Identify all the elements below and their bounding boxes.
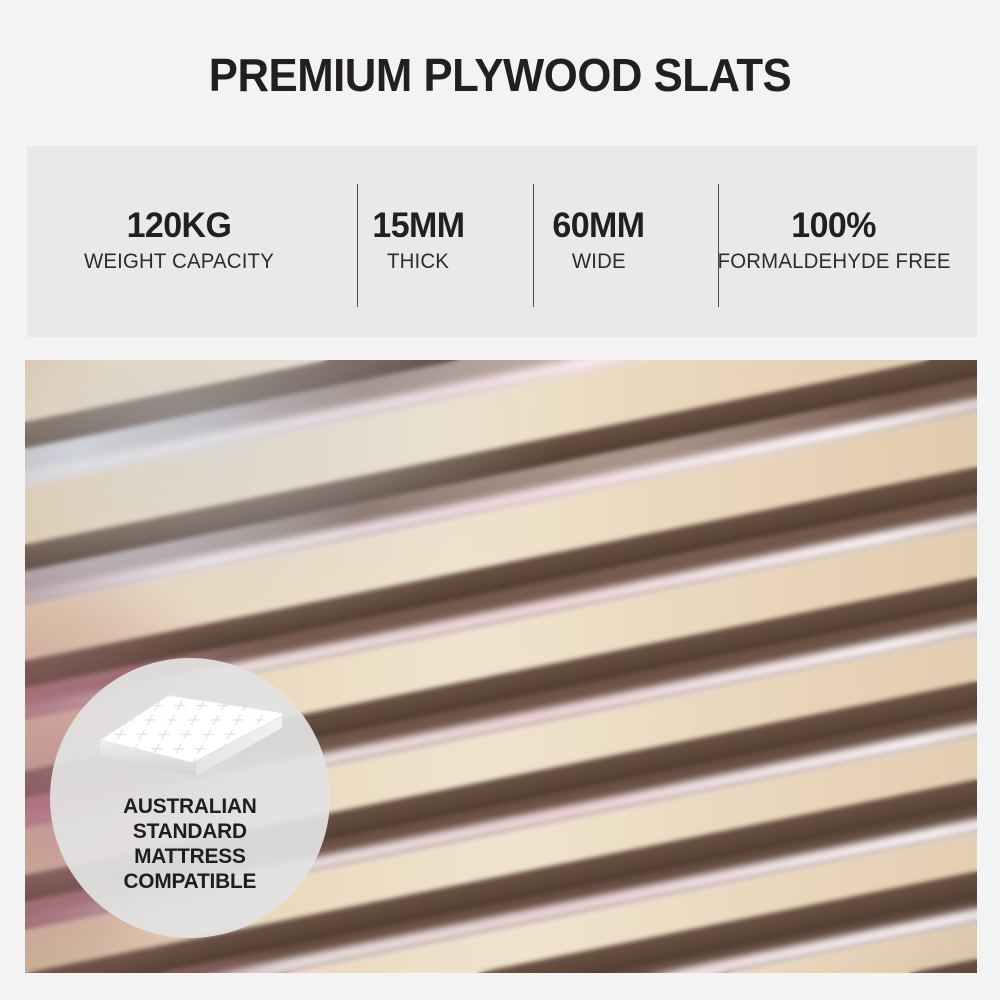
spec-value: 100% — [792, 208, 877, 245]
spec-label: WEIGHT CAPACITY — [83, 250, 273, 275]
badge-line: STANDARD — [123, 819, 257, 844]
spec-label: WIDE — [572, 250, 626, 275]
spec-value: 120KG — [126, 208, 231, 245]
badge-line: MATTRESS — [123, 844, 257, 869]
product-infographic: PREMIUM PLYWOOD SLATS 120KG WEIGHT CAPAC… — [0, 0, 1000, 1000]
page-title: PREMIUM PLYWOOD SLATS — [25, 48, 975, 102]
spec-divider — [533, 184, 534, 307]
spec-divider — [357, 184, 358, 307]
spec-value: 60MM — [553, 208, 645, 245]
spec-label: THICK — [387, 250, 449, 275]
spec-item-weight-capacity: 120KG WEIGHT CAPACITY — [27, 146, 330, 337]
spec-label: FORMALDEHYDE FREE — [717, 250, 950, 275]
badge-line: COMPATIBLE — [123, 869, 257, 894]
spec-item-formaldehyde-free: 100% FORMALDEHYDE FREE — [691, 146, 977, 337]
spec-bar: 120KG WEIGHT CAPACITY 15MM THICK 60MM WI… — [27, 146, 977, 337]
spec-value: 15MM — [372, 208, 464, 245]
badge-label: AUSTRALIAN STANDARD MATTRESS COMPATIBLE — [123, 794, 257, 894]
mattress-icon — [92, 684, 288, 780]
badge-line: AUSTRALIAN — [123, 794, 257, 819]
compatibility-badge: AUSTRALIAN STANDARD MATTRESS COMPATIBLE — [50, 658, 330, 938]
spec-divider — [718, 184, 719, 307]
